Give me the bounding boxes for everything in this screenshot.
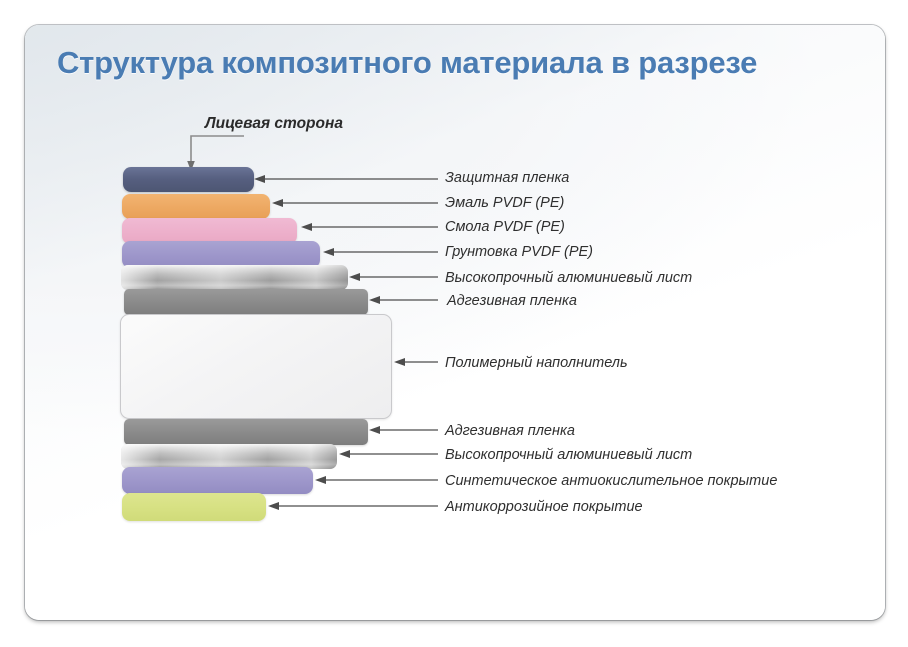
label-anticorrosion-coating: Антикоррозийное покрытие	[445, 500, 643, 515]
label-protective-film: Защитная пленка	[445, 171, 569, 186]
label-polymer-filler: Полимерный наполнитель	[445, 356, 628, 371]
page-title: Структура композитного материала в разре…	[57, 45, 757, 81]
layer-synthetic-antioxidant-coating[interactable]	[122, 467, 313, 494]
face-side-label: Лицевая сторона	[205, 115, 343, 133]
layer-adhesive-film-top[interactable]	[124, 289, 368, 315]
layer-anticorrosion-coating[interactable]	[122, 493, 266, 521]
layer-pvdf-primer[interactable]	[122, 241, 320, 268]
layer-adhesive-film-bottom[interactable]	[124, 419, 368, 445]
layer-pvdf-enamel[interactable]	[122, 194, 270, 219]
layer-aluminium-sheet-bottom[interactable]	[121, 444, 337, 469]
label-pvdf-enamel: Эмаль PVDF (PE)	[445, 196, 564, 211]
label-synthetic-antioxidant-coating: Синтетическое антиокислительное покрытие	[445, 474, 777, 489]
slide-canvas: Структура композитного материала в разре…	[0, 0, 908, 647]
label-pvdf-primer: Грунтовка PVDF (PE)	[445, 245, 593, 260]
label-adhesive-film-top: Адгезивная пленка	[447, 294, 577, 309]
label-aluminium-sheet-top: Высокопрочный алюминиевый лист	[445, 271, 692, 286]
label-aluminium-sheet-bottom: Высокопрочный алюминиевый лист	[445, 448, 692, 463]
label-pvdf-resin: Смола PVDF (PE)	[445, 220, 565, 235]
layer-protective-film[interactable]	[123, 167, 254, 192]
label-adhesive-film-bottom: Адгезивная пленка	[445, 424, 575, 439]
layer-aluminium-sheet-top[interactable]	[121, 265, 348, 290]
layer-polymer-filler[interactable]	[120, 314, 392, 419]
